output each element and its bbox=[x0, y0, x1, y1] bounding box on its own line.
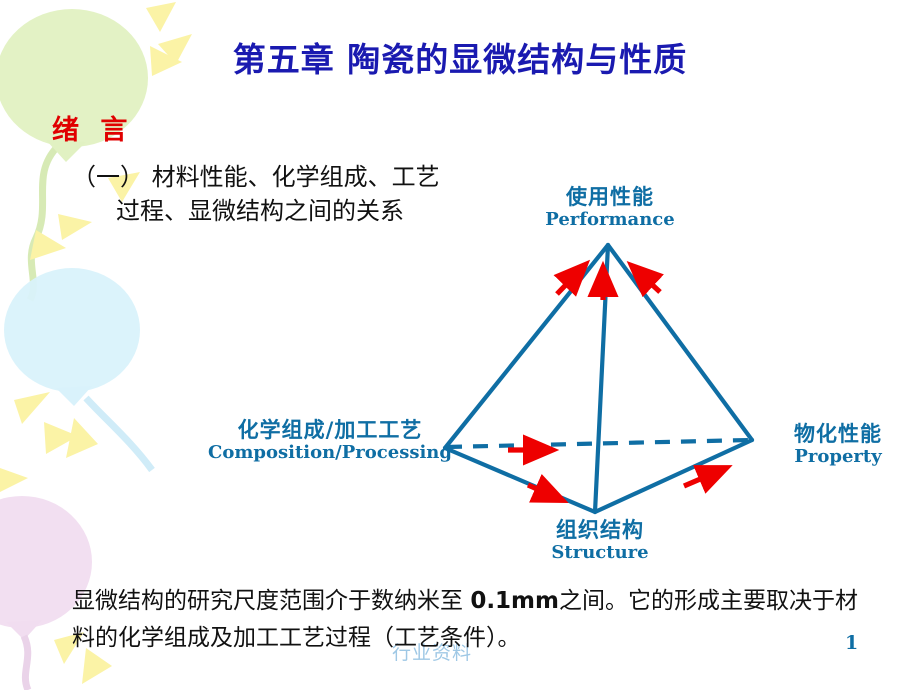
page-title: 第五章 陶瓷的显微结构与性质 bbox=[0, 33, 920, 81]
page-number: 1 bbox=[845, 632, 858, 654]
body-paragraph-part1: 显微结构的研究尺度范围介于数纳米至 bbox=[72, 588, 470, 614]
bullet-text-line1: 材料性能、化学组成、工艺 bbox=[152, 163, 440, 191]
tetra-label-structure-cn: 组织结构 bbox=[510, 518, 690, 542]
section-heading-introduction: 绪 言 bbox=[52, 108, 133, 147]
balloon-purple-knot bbox=[6, 620, 42, 640]
balloon-blue-group bbox=[4, 268, 152, 470]
balloon-blue-knot bbox=[56, 386, 92, 406]
bullet-text-line2: 过程、显微结构之间的关系 bbox=[116, 194, 440, 228]
balloon-blue bbox=[4, 268, 140, 392]
tetra-label-property-en: Property bbox=[758, 447, 918, 468]
ray-burst-mid bbox=[14, 392, 98, 458]
tetra-label-performance: 使用性能 Performance bbox=[505, 185, 715, 231]
tetra-label-property-cn: 物化性能 bbox=[758, 422, 918, 446]
slide-canvas: 第五章 陶瓷的显微结构与性质 绪 言 （一） 材料性能、化学组成、工艺 过程、显… bbox=[0, 0, 920, 690]
tetra-label-performance-cn: 使用性能 bbox=[505, 185, 715, 209]
tetra-edges bbox=[445, 245, 752, 512]
body-paragraph: 显微结构的研究尺度范围介于数纳米至 0.1mm之间。它的形成主要取决于材料的化学… bbox=[72, 583, 872, 658]
ray-icon bbox=[0, 468, 28, 492]
tetra-label-structure: 组织结构 Structure bbox=[510, 518, 690, 564]
balloon-green-string bbox=[30, 146, 58, 300]
edge-property-performance bbox=[608, 245, 752, 440]
arrow-composition-to-structure bbox=[528, 485, 562, 500]
bullet-block: （一） 材料性能、化学组成、工艺 过程、显微结构之间的关系 bbox=[72, 160, 440, 228]
bullet-line-1: （一） 材料性能、化学组成、工艺 bbox=[72, 160, 440, 194]
ray-icon bbox=[66, 418, 98, 458]
balloon-blue-string bbox=[86, 398, 152, 470]
edge-composition-property-dashed bbox=[447, 440, 750, 447]
arrow-structure-to-property bbox=[684, 468, 726, 486]
balloon-purple-string bbox=[24, 636, 28, 690]
ray-icon bbox=[44, 422, 78, 454]
bullet-marker: （一） bbox=[72, 163, 144, 191]
tetra-label-composition-en: Composition/Processing bbox=[185, 443, 475, 464]
tetra-label-structure-en: Structure bbox=[510, 543, 690, 564]
arrow-property-to-performance bbox=[632, 266, 660, 292]
edge-structure-performance bbox=[595, 245, 608, 512]
ray-icon bbox=[146, 2, 176, 32]
body-paragraph-emphasis: 0.1mm bbox=[470, 588, 559, 614]
ray-icon bbox=[30, 230, 66, 260]
tetra-label-composition-cn: 化学组成/加工工艺 bbox=[185, 418, 475, 442]
arrow-composition-to-performance bbox=[557, 265, 585, 294]
tetra-arrows bbox=[508, 265, 726, 500]
edge-structure-property bbox=[595, 440, 752, 512]
tetra-label-performance-en: Performance bbox=[505, 210, 715, 231]
tetra-label-property: 物化性能 Property bbox=[758, 422, 918, 468]
ray-icon bbox=[14, 392, 50, 424]
tetra-label-composition: 化学组成/加工工艺 Composition/Processing bbox=[185, 418, 475, 464]
